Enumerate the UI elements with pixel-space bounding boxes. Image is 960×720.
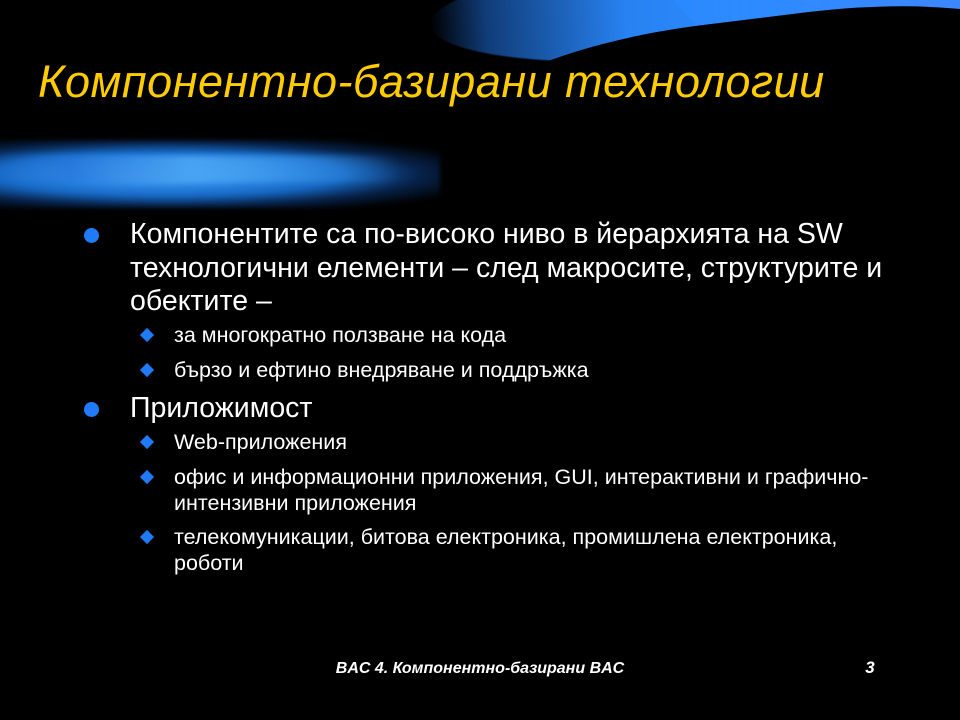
bullet-list-level2-group2: Web-приложения офис и информационни прил… — [130, 430, 908, 577]
sub-bullet-item-1-2-text: бързо и ефтино внедряване и поддръжка — [174, 358, 908, 384]
bullet-item-2-text: Приложимост — [130, 392, 908, 426]
bullet-item-1-text: Компонентите са по-високо ниво в йерархи… — [130, 218, 908, 319]
sub-bullet-item-1-1-text: за многократно ползване на кода — [174, 323, 908, 349]
round-bullet-icon — [84, 228, 99, 243]
sub-bullet-item-2-1-text: Web-приложения — [174, 430, 908, 456]
sub-bullet-item-2-2-text: офис и информационни приложения, GUI, ин… — [174, 465, 908, 517]
sub-bullet-item-2-2: офис и информационни приложения, GUI, ин… — [130, 465, 908, 517]
diamond-bullet-icon — [140, 470, 154, 484]
bullet-list-level2-group1: за многократно ползване на кода бързо и … — [130, 323, 908, 384]
slide-page-number: 3 — [820, 658, 920, 678]
crescent-cutout-decoration — [448, 0, 960, 215]
slide-body: Компонентите са по-високо ниво в йерархи… — [78, 218, 908, 586]
left-blue-glow-decoration — [0, 140, 440, 208]
sub-bullet-item-1-2: бързо и ефтино внедряване и поддръжка — [130, 358, 908, 384]
sub-bullet-item-2-3: телекомуникации, битова електроника, про… — [130, 525, 908, 577]
sub-bullet-item-1-1: за многократно ползване на кода — [130, 323, 908, 349]
sub-bullet-item-2-1: Web-приложения — [130, 430, 908, 456]
slide-title: Компонентно-базирани технологии — [38, 58, 918, 105]
sub-bullet-item-2-3-text: телекомуникации, битова електроника, про… — [174, 525, 908, 577]
bullet-item-2: Приложимост Web-приложения офис и информ… — [78, 392, 908, 577]
diamond-bullet-icon — [140, 328, 154, 342]
presentation-slide: Компонентно-базирани технологии Компонен… — [0, 0, 960, 720]
slide-footer: BAC 4. Компонентно-базирани BAC — [230, 658, 730, 680]
round-bullet-icon — [84, 402, 99, 417]
diamond-bullet-icon — [140, 363, 154, 377]
bullet-list-level1: Компонентите са по-високо ниво в йерархи… — [78, 218, 908, 577]
diamond-bullet-icon — [140, 530, 154, 544]
bullet-item-1: Компонентите са по-високо ниво в йерархи… — [78, 218, 908, 383]
left-blue-glow-core-decoration — [0, 156, 400, 182]
diamond-bullet-icon — [140, 435, 154, 449]
